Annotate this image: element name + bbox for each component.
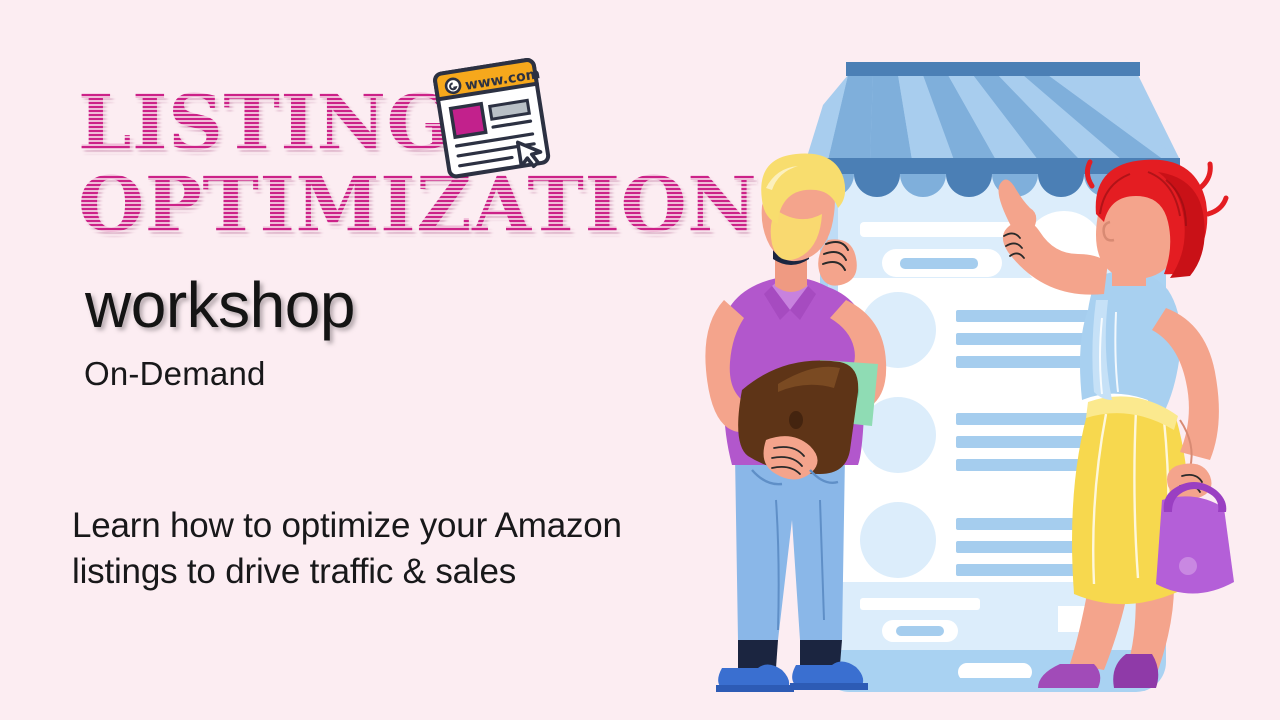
headline-line-2-text: OPTIMIZATION <box>78 168 757 242</box>
headline-line-2: OPTIMIZATION <box>78 168 757 242</box>
webpage-card-icon: www.com <box>419 49 567 193</box>
poster-canvas: LISTING OPTIMIZATION workshop On-Demand … <box>0 0 1280 720</box>
mobile-storefront-shopping-illustration <box>660 0 1280 720</box>
headline-line-1-text: LISTING <box>78 86 452 160</box>
subhead-workshop: workshop <box>85 268 355 342</box>
headline-line-1: LISTING <box>78 86 452 160</box>
availability-label: On-Demand <box>84 355 266 393</box>
body-copy: Learn how to optimize your Amazon listin… <box>72 503 672 595</box>
